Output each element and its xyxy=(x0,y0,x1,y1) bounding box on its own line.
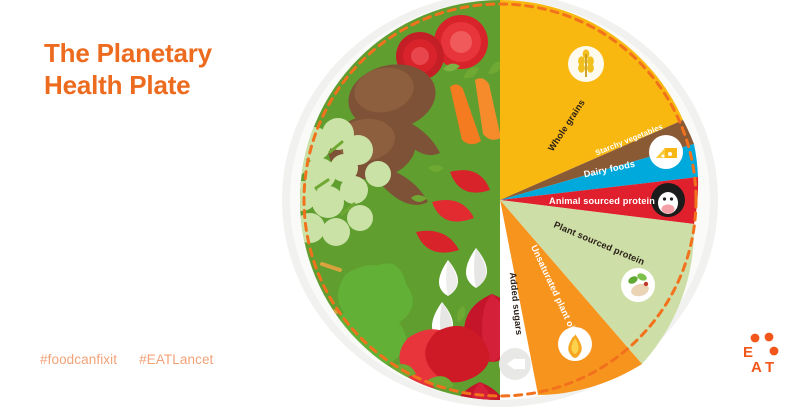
logo-letter-t: T xyxy=(765,359,774,376)
slice-label-animal-sourced-protein: Animal sourced protein xyxy=(549,196,655,206)
poster-canvas: The Planetary Health Plate #foodcanfixit… xyxy=(0,0,800,400)
logo-dot-2 xyxy=(765,333,774,342)
cheese-icon xyxy=(649,135,683,169)
wheat-icon xyxy=(568,46,604,82)
page-title: The Planetary Health Plate xyxy=(44,38,294,101)
page-title-line-1: The Planetary xyxy=(44,38,294,70)
beans-icon xyxy=(621,268,655,302)
logo-dot-1 xyxy=(751,334,760,343)
logo-letter-a: A xyxy=(751,359,762,376)
hashtag-list: #foodcanfixit #EATLancet xyxy=(40,352,213,367)
eat-logo[interactable]: E A T xyxy=(738,326,788,380)
logo-dot-3 xyxy=(770,347,779,356)
hashtag-foodcanfixit[interactable]: #foodcanfixit xyxy=(40,352,117,367)
page-title-line-2: Health Plate xyxy=(44,70,294,102)
cow-icon xyxy=(651,183,685,217)
hashtag-eatlancet[interactable]: #EATLancet xyxy=(139,352,213,367)
sugar-cube-icon xyxy=(499,348,531,380)
planetary-health-plate-chart: Whole grains Starchy vegetables Dairy fo… xyxy=(280,0,720,408)
